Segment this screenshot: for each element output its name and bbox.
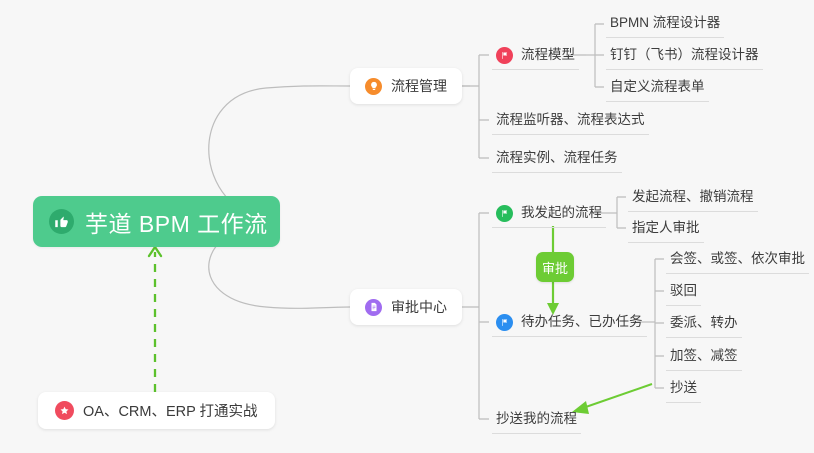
- flag-red-icon: [496, 47, 513, 64]
- thumbs-up-icon: [49, 209, 74, 234]
- callout-node-oa-crm-erp[interactable]: OA、CRM、ERP 打通实战: [38, 392, 275, 429]
- leaf-label-add-remove-sign: 加签、减签: [670, 349, 738, 363]
- leaf-label-start-cancel: 发起流程、撤销流程: [632, 190, 754, 204]
- leaf-label-bpmn-designer: BPMN 流程设计器: [610, 16, 720, 30]
- leaf-label-delegate-transfer: 委派、转办: [670, 316, 738, 330]
- leaf-my-initiated[interactable]: 我发起的流程: [492, 199, 606, 228]
- leaf-cc[interactable]: 抄送: [666, 374, 701, 403]
- leaf-label-custom-process-form: 自定义流程表单: [610, 80, 705, 94]
- leaf-instance-task[interactable]: 流程实例、流程任务: [492, 144, 622, 173]
- branch-node-liucheng-guanli[interactable]: 流程管理: [350, 68, 462, 104]
- leaf-label-instance-task: 流程实例、流程任务: [496, 151, 618, 165]
- leaf-label-listener-expression: 流程监听器、流程表达式: [496, 113, 645, 127]
- approve-badge-label: 审批: [542, 258, 568, 277]
- leaf-dingtalk-feishu-designer[interactable]: 钉钉（飞书）流程设计器: [606, 41, 763, 70]
- leaf-label-my-initiated: 我发起的流程: [521, 206, 602, 220]
- branch-node-shenpi-zhongxin[interactable]: 审批中心: [350, 289, 462, 325]
- leaf-bpmn-designer[interactable]: BPMN 流程设计器: [606, 9, 724, 38]
- document-icon: [365, 299, 382, 316]
- mindmap-canvas: 芋道 BPM 工作流 流程管理 流程模型 BPMN 流程设计器 钉钉（飞书）流程…: [0, 0, 814, 453]
- branch-label-shenpi-zhongxin: 审批中心: [391, 297, 447, 317]
- leaf-custom-process-form[interactable]: 自定义流程表单: [606, 73, 709, 102]
- approve-badge: 审批: [536, 252, 574, 282]
- leaf-label-cc: 抄送: [670, 381, 697, 395]
- leaf-reject[interactable]: 驳回: [666, 277, 701, 306]
- leaf-assignee-approve[interactable]: 指定人审批: [628, 214, 704, 243]
- callout-label: OA、CRM、ERP 打通实战: [83, 400, 258, 421]
- callout-arrow: [149, 247, 161, 392]
- leaf-label-assignee-approve: 指定人审批: [632, 221, 700, 235]
- leaf-label-reject: 驳回: [670, 284, 697, 298]
- star-icon: [55, 401, 74, 420]
- flag-blue-icon: [496, 314, 513, 331]
- leaf-label-cc-to-me: 抄送我的流程: [496, 412, 577, 426]
- root-label: 芋道 BPM 工作流: [85, 205, 268, 239]
- branch-label-liucheng-guanli: 流程管理: [391, 76, 447, 96]
- leaf-listener-expression[interactable]: 流程监听器、流程表达式: [492, 106, 649, 135]
- leaf-label-liucheng-moxing: 流程模型: [521, 48, 575, 62]
- cc-flow-arrow: [572, 384, 652, 414]
- lightbulb-icon: [365, 78, 382, 95]
- leaf-liucheng-moxing[interactable]: 流程模型: [492, 41, 579, 70]
- leaf-label-countersign: 会签、或签、依次审批: [670, 252, 805, 266]
- leaf-start-cancel[interactable]: 发起流程、撤销流程: [628, 183, 758, 212]
- leaf-countersign[interactable]: 会签、或签、依次审批: [666, 245, 809, 274]
- leaf-add-remove-sign[interactable]: 加签、减签: [666, 342, 742, 371]
- leaf-delegate-transfer[interactable]: 委派、转办: [666, 309, 742, 338]
- leaf-label-todo-done: 待办任务、已办任务: [521, 315, 643, 329]
- leaf-todo-done[interactable]: 待办任务、已办任务: [492, 308, 647, 337]
- leaf-cc-to-me[interactable]: 抄送我的流程: [492, 405, 581, 434]
- flag-green-icon: [496, 205, 513, 222]
- leaf-label-dingtalk-feishu-designer: 钉钉（飞书）流程设计器: [610, 48, 759, 62]
- root-node[interactable]: 芋道 BPM 工作流: [33, 196, 280, 247]
